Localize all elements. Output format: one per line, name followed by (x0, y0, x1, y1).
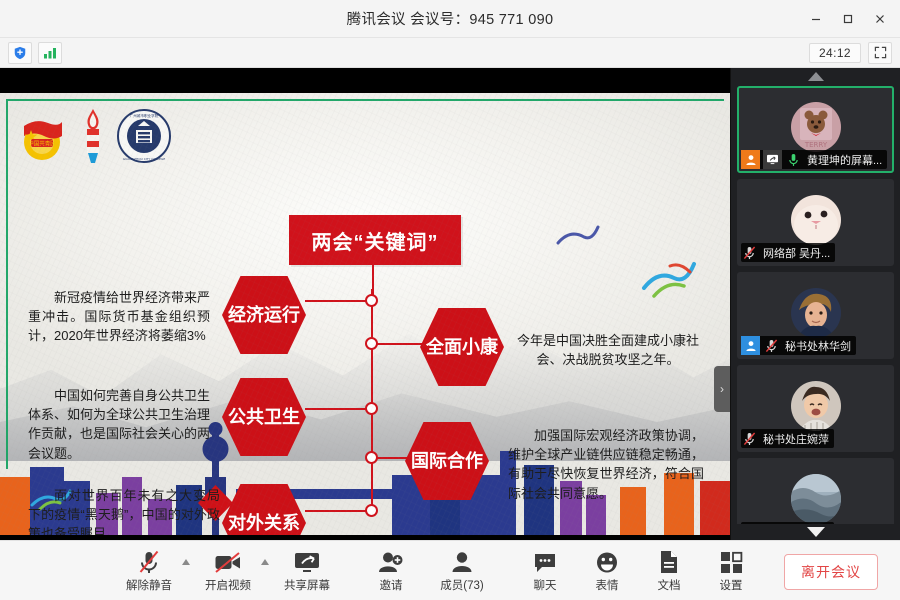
document-icon (659, 548, 679, 574)
maximize-button[interactable] (832, 6, 864, 32)
svg-text:中国共青团: 中国共青团 (28, 140, 56, 148)
participant-name: 黄理坤的屏幕... (805, 152, 882, 168)
participants-icon (450, 548, 474, 574)
toolbar-label: 邀请 (380, 577, 403, 593)
timeline-connector (377, 457, 407, 459)
tag-line: 全面小康 (426, 337, 498, 358)
leave-meeting-button[interactable]: 离开会议 (784, 554, 878, 590)
participant-tile[interactable]: 秘书处林华剑 (737, 272, 894, 359)
sub-bar-right: 24:12 (809, 42, 892, 64)
signal-bars-icon[interactable] (38, 42, 62, 64)
shared-slide: 中国共青团 (0, 93, 730, 535)
settings-grid-icon (720, 548, 743, 574)
caret-down-icon (807, 527, 825, 537)
mic-muted-icon (138, 548, 160, 574)
screen-share-icon (293, 548, 321, 574)
svg-text:GUANGZHOU CITY COLLEGE: GUANGZHOU CITY COLLEGE (123, 157, 166, 161)
timeline-connector (305, 300, 367, 302)
participant-status-bar: 秘书处庄婉萍 (741, 429, 834, 448)
toolbar-document-button[interactable]: 文档 (638, 543, 700, 599)
host-badge-icon (741, 150, 760, 169)
toolbar-label: 文档 (658, 577, 681, 593)
toolbar-participants-button[interactable]: 成员(73) (426, 543, 498, 599)
chevron-right-icon[interactable]: › (714, 366, 730, 412)
toolbar-invite-button[interactable]: 邀请 (360, 543, 422, 599)
university-seal-icon: 广州城市职业学院 GUANGZHOU CITY COLLEGE (116, 108, 172, 164)
tag-line: 公共卫生 (228, 407, 300, 428)
mic-muted-icon (741, 429, 758, 448)
participant-name: 网络部段伊慧 (761, 524, 829, 525)
toolbar-items: 解除静音 开启视频 (0, 543, 762, 599)
slide-logos: 中国共青团 (14, 107, 172, 165)
mic-muted-icon (741, 522, 758, 524)
close-button[interactable] (864, 6, 896, 32)
avatar (791, 381, 841, 431)
timeline-connector (305, 408, 367, 410)
svg-text:广州城市职业学院: 广州城市职业学院 (130, 113, 159, 118)
fullscreen-icon[interactable] (868, 42, 892, 64)
chat-icon (533, 548, 557, 574)
mic-on-icon (785, 150, 802, 169)
screen-share-badge-icon (763, 150, 782, 169)
toolbar-label: 成员(73) (440, 577, 483, 593)
participant-status-bar: 秘书处林华剑 (741, 336, 856, 355)
toolbar-chat-button[interactable]: 聊天 (514, 543, 576, 599)
toolbar-share-screen-button[interactable]: 共享屏幕 (276, 543, 338, 599)
slide-title-text: 两会“关键词” (312, 226, 439, 255)
toolbar-settings-button[interactable]: 设置 (700, 543, 762, 599)
panel-scroll-up-button[interactable] (731, 68, 900, 84)
slide-title-banner: 两会“关键词” (289, 215, 461, 265)
participant-name: 秘书处林华剑 (783, 338, 851, 354)
tencent-meeting-window: 腾讯会议 会议号：945 771 090 (0, 0, 900, 600)
video-muted-icon (214, 548, 242, 574)
toolbar-label: 聊天 (534, 577, 557, 593)
torch-icon (80, 107, 106, 165)
participant-status-bar: 黄理坤的屏幕... (741, 150, 887, 169)
title-bar: 腾讯会议 会议号：945 771 090 (0, 0, 900, 38)
participant-name: 网络部 吴丹... (761, 245, 830, 261)
participants-panel: TERRY (730, 68, 900, 540)
slide-text-economy: 新冠疫情给世界经济带来严重冲击。国际货币基金组织预计，2020年世界经济将萎缩3… (28, 288, 210, 346)
invite-user-icon (378, 548, 404, 574)
mic-muted-icon (741, 243, 758, 262)
toolbar-label: 开启视频 (205, 577, 251, 593)
toolbar-label: 解除静音 (126, 577, 172, 593)
slide-text-cooperation: 加强国际宏观经济政策协调，维护全球产业链供应链稳定畅通，有助于尽快恢复世界经济，… (508, 426, 704, 503)
toolbar-label: 共享屏幕 (284, 577, 330, 593)
toolbar-start-video-button[interactable]: 开启视频 (197, 543, 259, 599)
toolbar-emoji-button[interactable]: 表情 (576, 543, 638, 599)
bird-decoration-top (556, 223, 600, 260)
timeline-connector (377, 343, 422, 345)
toolbar-label: 设置 (720, 577, 743, 593)
participant-tile[interactable]: 网络部段伊慧 (737, 458, 894, 524)
communist-youth-league-emblem-icon: 中国共青团 (14, 110, 70, 162)
window-title: 腾讯会议 会议号：945 771 090 (347, 8, 554, 29)
bird-decoration-right (640, 258, 698, 307)
meeting-stage: 中国共青团 (0, 68, 900, 540)
caret-up-icon (808, 72, 824, 81)
svg-text:TERRY: TERRY (803, 141, 827, 149)
mic-options-caret-icon[interactable] (182, 559, 190, 565)
minimize-button[interactable] (800, 6, 832, 32)
avatar (791, 195, 841, 245)
mic-muted-icon (763, 336, 780, 355)
slide-text-foreign-relations: 面对世界百年未有之大变局下的疫情“黑天鹅”，中国的对外政策也备受瞩目。 (28, 486, 220, 535)
keyword-tag-economy: 经济运行 (222, 276, 306, 354)
video-options-caret-icon[interactable] (261, 559, 269, 565)
participant-tile[interactable]: 网络部 吴丹... (737, 179, 894, 266)
slide-text-prosperity: 今年是中国决胜全面建成小康社会、决战脱贫攻坚之年。 (508, 331, 708, 369)
tag-line: 国际合作 (411, 451, 483, 472)
toolbar-unmute-button[interactable]: 解除静音 (118, 543, 180, 599)
tag-line: 对外关系 (228, 513, 300, 534)
meeting-toolbar: 解除静音 开启视频 (0, 540, 900, 600)
window-controls (800, 0, 896, 38)
avatar (791, 474, 841, 524)
panel-scroll-down-button[interactable] (731, 524, 900, 540)
shield-icon[interactable] (8, 42, 32, 64)
participant-status-bar: 网络部段伊慧 (741, 522, 834, 524)
participant-name: 秘书处庄婉萍 (761, 431, 829, 447)
participant-tile[interactable]: TERRY (737, 86, 894, 173)
shared-screen-area[interactable]: 中国共青团 (0, 68, 730, 540)
avatar (791, 288, 841, 338)
avatar: TERRY (791, 102, 841, 152)
slide-text-public-health: 中国如何完善自身公共卫生体系、如何为全球公共卫生治理作贡献，也是国际社会关心的两… (28, 386, 210, 463)
timeline-connector (305, 510, 367, 512)
meeting-sub-bar: 24:12 (0, 38, 900, 68)
participant-tiles: TERRY (731, 84, 900, 524)
emoji-icon (595, 548, 619, 574)
timeline-spine (371, 289, 373, 509)
meeting-timer: 24:12 (809, 43, 861, 63)
user-badge-icon (741, 336, 760, 355)
tag-line: 经济运行 (228, 305, 300, 326)
toolbar-label: 表情 (596, 577, 619, 593)
participant-status-bar: 网络部 吴丹... (741, 243, 835, 262)
participant-tile[interactable]: 秘书处庄婉萍 (737, 365, 894, 452)
